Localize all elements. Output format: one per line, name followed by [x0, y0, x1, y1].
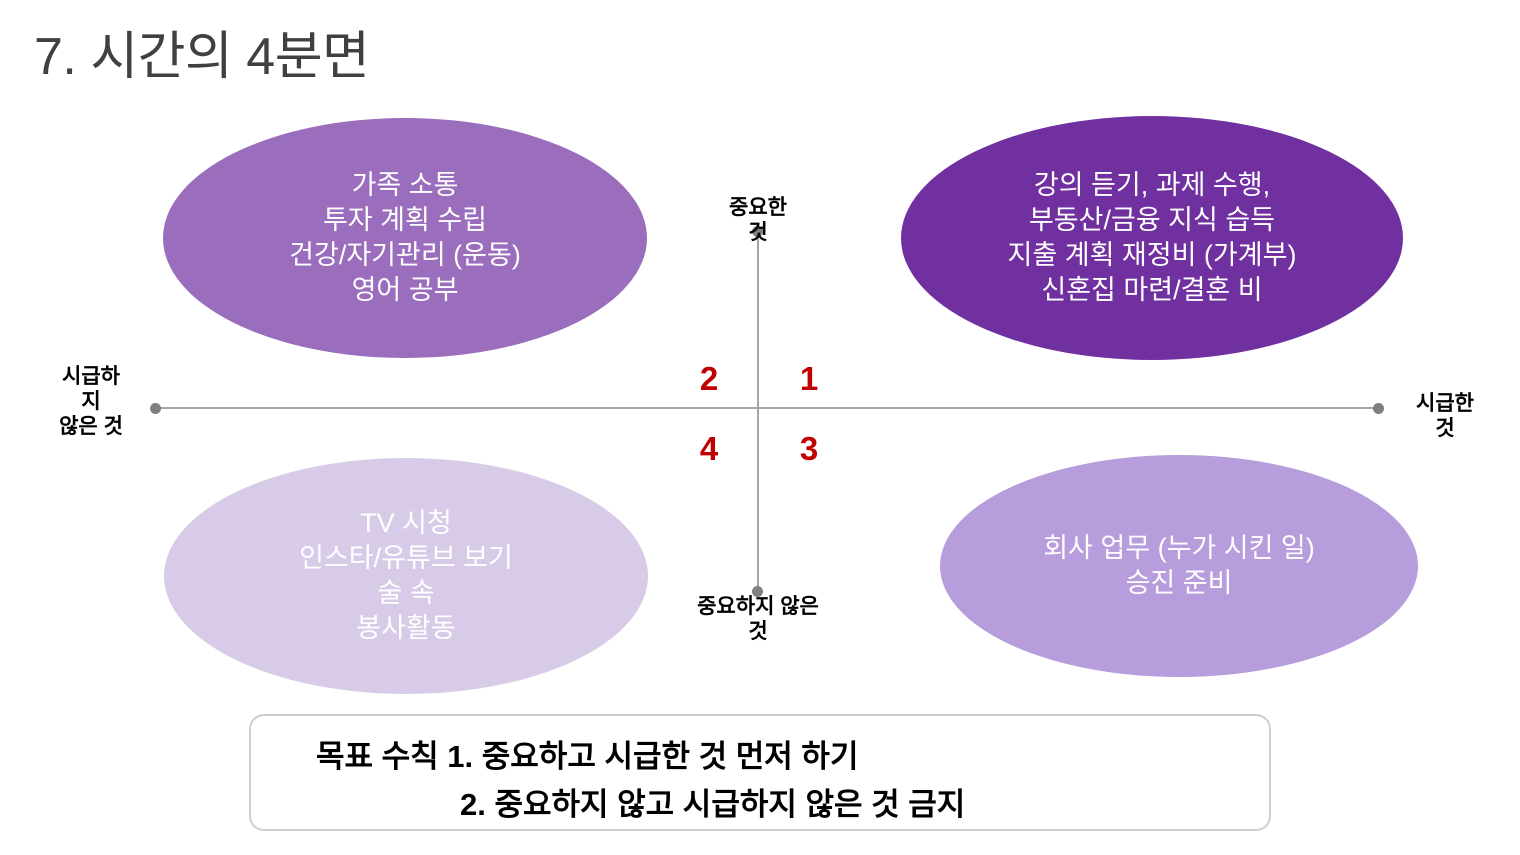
quadrant-number-2: 2	[689, 360, 729, 398]
axis-label-not-urgent: 시급하 지 않은 것	[26, 365, 156, 439]
quadrant-number-4: 4	[689, 430, 729, 468]
goal-rule-2: 2. 중요하지 않고 시급하지 않은 것 금지	[460, 779, 965, 824]
goal-rule-1: 목표 수칙 1. 중요하고 시급한 것 먼저 하기	[316, 731, 858, 776]
quadrant-ellipse-3-not-important-urgent[interactable]: 회사 업무 (누가 시킨 일) 승진 준비	[940, 455, 1418, 677]
quadrant-ellipse-1-important-urgent[interactable]: 강의 듣기, 과제 수행, 부동산/금융 지식 습득 지출 계획 재정비 (가계…	[901, 116, 1403, 360]
axis-endpoint-dot-right	[1373, 403, 1384, 414]
page-title: 7. 시간의 4분면	[34, 14, 369, 89]
axis-label-not-important: 중요하지 않은 것	[657, 595, 859, 645]
axis-label-urgent: 시급한 것	[1385, 392, 1505, 442]
axis-label-important: 중요한 것	[688, 196, 828, 246]
quadrant-number-1: 1	[789, 360, 829, 398]
quadrant-number-3: 3	[789, 430, 829, 468]
quadrant-ellipse-4-not-important-not-urgent[interactable]: TV 시청 인스타/유튜브 보기 술 속 봉사활동	[164, 458, 648, 694]
quadrant-ellipse-2-important-not-urgent[interactable]: 가족 소통 투자 계획 수립 건강/자기관리 (운동) 영어 공부	[163, 118, 647, 358]
vertical-axis-line	[757, 231, 759, 591]
goal-rules-box: 목표 수칙 1. 중요하고 시급한 것 먼저 하기 2. 중요하지 않고 시급하…	[249, 714, 1271, 831]
horizontal-axis-line	[155, 407, 1379, 409]
